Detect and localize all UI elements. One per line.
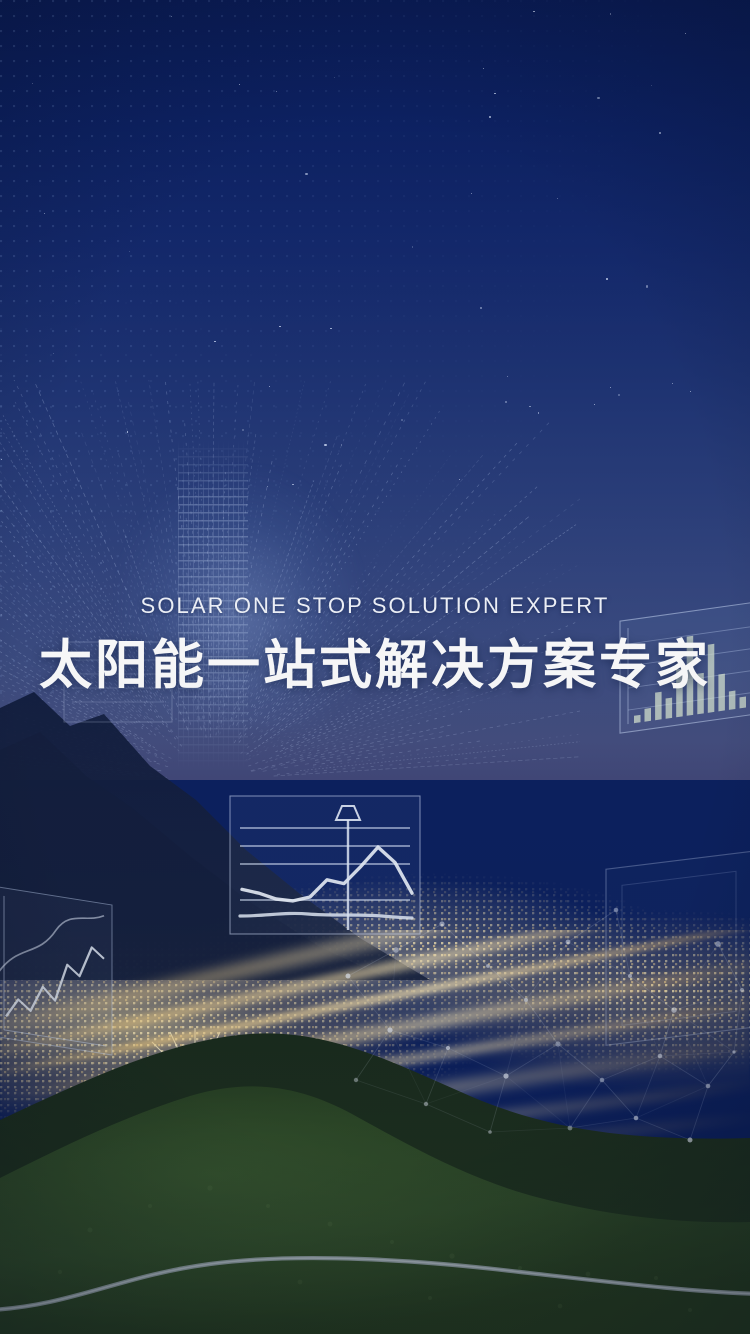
line-chart-panel [226,790,426,940]
hero-title: 太阳能一站式解决方案专家 [0,637,750,694]
hero-banner: SOLAR ONE STOP SOLUTION EXPERT 太阳能一站式解决方… [0,0,750,1334]
chart-bar [634,715,641,723]
chart-bar [666,698,673,719]
frame-panel-right [600,840,750,1080]
winding-road [0,1210,750,1334]
jagged-chart-svg [0,880,124,1060]
chart-bar [740,696,747,708]
jagged-chart-panel [0,880,124,1060]
chart-bar [655,692,662,721]
line-chart-svg [226,790,426,940]
chart-bar [645,708,652,722]
hero-text-block: SOLAR ONE STOP SOLUTION EXPERT 太阳能一站式解决方… [0,595,750,694]
frame-panel-right-svg [600,840,750,1080]
hero-subtitle: SOLAR ONE STOP SOLUTION EXPERT [0,595,750,617]
